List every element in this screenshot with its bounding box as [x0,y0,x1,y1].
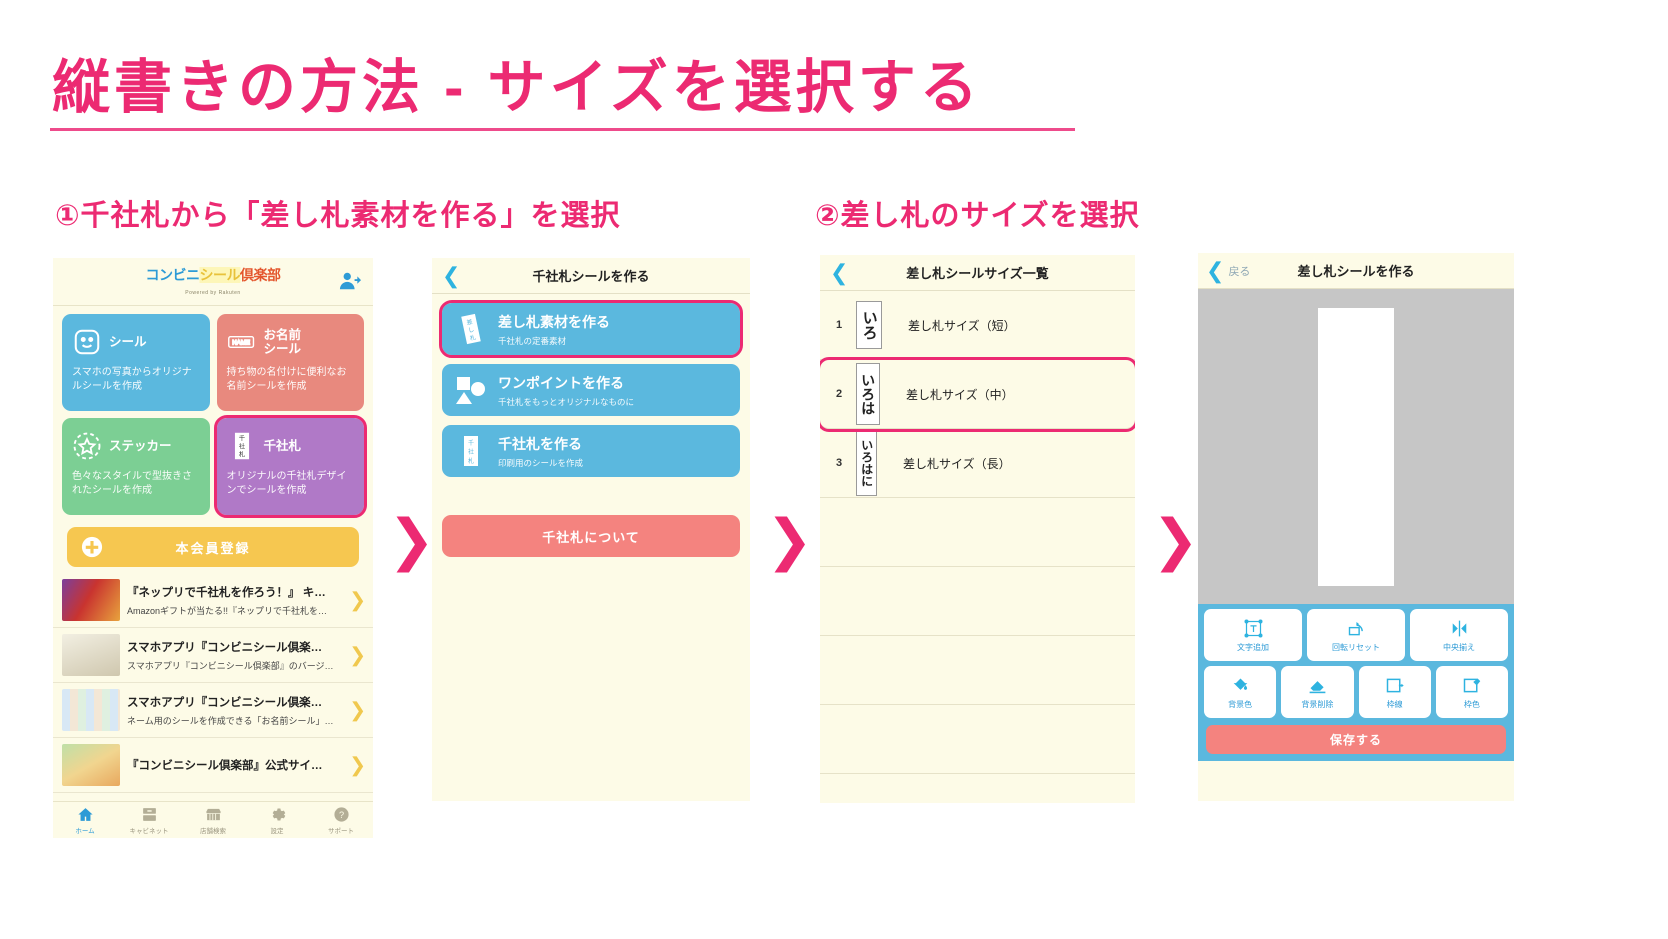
tab-settings[interactable]: 設定 [245,802,309,838]
menu-item-onepoint[interactable]: ワンポイントを作る 千社札をもっとオリジナルなものに [442,364,740,416]
menu-item-subtitle: 千社札の定番素材 [498,335,610,347]
size-row-mid[interactable]: 2 いろは 差し札サイズ（中） [820,360,1135,429]
tile-sticker[interactable]: ステッカー 色々なスタイルで型抜きされたシールを作成 [62,418,210,515]
tool-align-center[interactable]: 中央揃え [1410,609,1508,661]
news-item[interactable]: 『ネップリで千社札を作ろう！』 キ… Amazonギフトが当たる!!『ネップリで… [53,573,373,628]
tile-label: お名前 シール [264,328,302,357]
empty-row [820,636,1135,705]
chevron-right-icon: ❯ [349,588,366,613]
news-item[interactable]: スマホアプリ『コンビニシール倶楽… ネーム用のシールを作成できる「お名前シール」… [53,683,373,738]
border-width-icon [1384,675,1405,696]
size-row-short[interactable]: 1 いろ 差し札サイズ（短） [820,291,1135,360]
tab-home[interactable]: ホーム [53,802,117,838]
add-user-icon[interactable] [339,270,361,292]
tile-label: 千社札 [264,439,302,453]
chevron-left-icon[interactable]: ❮ [442,265,460,287]
tool-label: 回転リセット [1332,642,1380,653]
tool-border-width[interactable]: 枠線 [1359,666,1431,718]
sashifuda-icon: 差 し 札 [454,312,488,346]
news-title: 『コンビニシール倶楽部』公式サイ… [127,757,350,773]
star-burst-icon [72,431,102,461]
menu-item-subtitle: 印刷用のシールを作成 [498,457,583,469]
menu-item-title: ワンポイントを作る [498,373,634,393]
kana-preview: いろはに [856,430,877,496]
tab-label: ホーム [75,825,94,835]
back-button[interactable]: ❮ 戻る [1206,260,1250,282]
svg-text:千: 千 [238,435,244,443]
flow-arrow-1: ❯ [388,512,435,568]
phone-screen-senjafuda-menu: ❮ 千社札シールを作る 差 し 札 差し札素材を作る 千社札の定番素材 ワンポイ… [432,258,750,801]
kana-preview: いろ [856,301,882,349]
name-tag-icon: NAME [227,327,257,357]
phone-screen-size-list: ❮ 差し札シールサイズ一覧 1 いろ 差し札サイズ（短） 2 いろは 差し札サイ… [820,255,1135,803]
tab-label: キャビネット [130,825,169,835]
gear-icon [269,806,286,823]
tile-description: スマホの写真からオリジナルシールを作成 [72,366,200,393]
tool-label: 枠線 [1387,699,1403,710]
chevron-right-icon: ❯ [349,698,366,723]
phone-screen-home: コンビニシール倶楽部 Powered by Rakuten シール スマホの写真… [53,258,373,838]
align-center-icon [1449,618,1470,639]
logo-part-2: シール [200,267,241,283]
shapes-icon [454,373,488,407]
svg-text:社: 社 [468,448,474,456]
about-senjafuda-button[interactable]: 千社札について [442,515,740,557]
tab-cabinet[interactable]: キャビネット [117,802,181,838]
app-logo: コンビニシール倶楽部 Powered by Rakuten [146,265,281,296]
cabinet-icon [141,806,158,823]
logo-subtitle: Powered by Rakuten [146,290,281,296]
editor-canvas[interactable] [1198,289,1514,604]
add-text-icon [1243,618,1264,639]
menu-item-subtitle: 千社札をもっとオリジナルなものに [498,396,634,408]
menu-item-senjafuda[interactable]: 千 社 札 千社札を作る 印刷用のシールを作成 [442,425,740,477]
empty-row [820,498,1135,567]
tile-label: ステッカー [109,439,172,453]
tool-label: 枠色 [1464,699,1480,710]
page-title: 縦書きの方法 - サイズを選択する [52,40,982,124]
border-color-icon [1461,675,1482,696]
menu-item-sashifuda-material[interactable]: 差 し 札 差し札素材を作る 千社札の定番素材 [442,303,740,355]
chevron-left-icon[interactable]: ❮ [830,262,848,284]
tile-seal[interactable]: シール スマホの写真からオリジナルシールを作成 [62,314,210,411]
logo-part-1: コンビニ [146,267,200,283]
tile-senjafuda[interactable]: 千 社 札 千社札 オリジナルの千社札デザインでシールを作成 [217,418,365,515]
chevron-left-icon: ❮ [1206,260,1224,282]
svg-text:?: ? [338,810,343,820]
home-icon [77,806,94,823]
register-button[interactable]: 本会員登録 [67,527,359,567]
chevron-right-icon: ❯ [349,753,366,778]
tool-background-color[interactable]: 背景色 [1204,666,1276,718]
screen-header: ❮ 千社札シールを作る [432,258,750,294]
eraser-icon [1307,675,1328,696]
app-header: コンビニシール倶楽部 Powered by Rakuten [53,258,373,306]
tool-label: 背景削除 [1301,699,1333,710]
tile-description: 色々なスタイルで型抜きされたシールを作成 [72,470,200,497]
senjafuda-icon: 千 社 札 [227,431,257,461]
flow-arrow-2: ❯ [766,512,813,568]
tile-label: シール [109,335,147,349]
step-1-heading: ①千社札から「差し札素材を作る」を選択 [55,192,621,234]
tab-store-search[interactable]: 店舗検索 [181,802,245,838]
news-list: 『ネップリで千社札を作ろう！』 キ… Amazonギフトが当たる!!『ネップリで… [53,573,373,793]
svg-text:札: 札 [468,457,474,465]
svg-text:札: 札 [238,451,244,459]
tile-description: 持ち物の名付けに便利なお名前シールを作成 [227,366,355,393]
tool-rotate-reset[interactable]: 回転リセット [1307,609,1405,661]
row-number: 3 [826,457,852,469]
step-2-heading: ②差し札のサイズを選択 [815,192,1140,234]
news-subtitle: Amazonギフトが当たる!!『ネップリで千社札を… [127,604,350,617]
news-title: スマホアプリ『コンビニシール倶楽… [127,639,350,655]
news-thumbnail [62,579,120,621]
bottom-tab-bar: ホーム キャビネット 店舗検索 設定 ? サポート [53,801,373,838]
smiley-square-icon [72,327,102,357]
plus-circle-icon [81,536,103,558]
register-button-label: 本会員登録 [175,538,250,557]
empty-row [820,567,1135,636]
tool-background-erase[interactable]: 背景削除 [1281,666,1353,718]
help-icon: ? [333,806,350,823]
senjafuda-icon: 千 社 札 [454,434,488,468]
tool-label: 中央揃え [1443,642,1475,653]
news-thumbnail [62,744,120,786]
svg-text:NAME: NAME [232,340,250,347]
size-list: 1 いろ 差し札サイズ（短） 2 いろは 差し札サイズ（中） 3 いろはに 差し… [820,291,1135,774]
screen-title: 千社札シールを作る [532,266,649,285]
logo-part-3: 倶楽部 [240,267,281,283]
svg-text:社: 社 [238,443,244,451]
news-thumbnail [62,689,120,731]
screen-title: 差し札シールサイズ一覧 [906,263,1049,282]
menu-item-title: 差し札素材を作る [498,312,610,332]
size-label: 差し札サイズ（中） [906,386,1014,403]
news-item[interactable]: 『コンビニシール倶楽部』公式サイ… ❯ [53,738,373,793]
news-thumbnail [62,634,120,676]
chevron-right-icon: ❯ [349,643,366,668]
tool-label: 文字追加 [1237,642,1269,653]
screen-title: 差し札シールを作る [1297,261,1414,280]
phone-screen-editor: ❮ 戻る 差し札シールを作る 文字追加 回転 [1198,253,1514,801]
menu-item-title: 千社札を作る [498,434,583,454]
flow-arrow-3: ❯ [1152,512,1199,568]
size-label: 差し札サイズ（短） [908,317,1016,334]
tile-name-seal[interactable]: NAME お名前 シール 持ち物の名付けに便利なお名前シールを作成 [217,314,365,411]
news-subtitle: ネーム用のシールを作成できる「お名前シール」… [127,714,350,727]
store-icon [205,806,222,823]
tool-add-text[interactable]: 文字追加 [1204,609,1302,661]
sticker-sheet[interactable] [1318,308,1394,586]
tool-border-color[interactable]: 枠色 [1436,666,1508,718]
kana-text: いろ [861,310,876,340]
save-button[interactable]: 保存する [1206,725,1506,754]
title-underline [50,128,1075,131]
rotate-reset-icon [1346,618,1367,639]
tool-label: 背景色 [1228,699,1252,710]
row-number: 2 [826,388,852,400]
toolbar-row-1: 文字追加 回転リセット 中央揃え [1204,609,1508,661]
empty-row [820,705,1135,774]
editor-toolbar: 文字追加 回転リセット 中央揃え [1198,604,1514,761]
news-item[interactable]: スマホアプリ『コンビニシール倶楽… スマホアプリ『コンビニシール倶楽部』のバージ… [53,628,373,683]
tile-description: オリジナルの千社札デザインでシールを作成 [227,470,355,497]
screen-header: ❮ 戻る 差し札シールを作る [1198,253,1514,289]
size-label: 差し札サイズ（長） [903,455,1011,472]
kana-preview: いろは [856,363,880,425]
screen-header: ❮ 差し札シールサイズ一覧 [820,255,1135,291]
svg-text:千: 千 [468,439,474,447]
tab-label: 設定 [271,825,284,835]
news-title: 『ネップリで千社札を作ろう！』 キ… [127,584,350,600]
news-subtitle: スマホアプリ『コンビニシール倶楽部』のバージ… [127,659,350,672]
feature-tiles: シール スマホの写真からオリジナルシールを作成 NAME お名前 シール 持ち物… [53,306,373,519]
toolbar-row-2: 背景色 背景削除 枠線 枠色 [1204,666,1508,718]
tab-support[interactable]: ? サポート [309,802,373,838]
size-row-long[interactable]: 3 いろはに 差し札サイズ（長） [820,429,1135,498]
kana-text: いろは [861,373,875,415]
row-number: 1 [826,319,852,331]
back-label: 戻る [1228,263,1250,279]
kana-text: いろはに [860,439,872,487]
tab-label: 店舗検索 [200,825,226,835]
news-title: スマホアプリ『コンビニシール倶楽… [127,694,350,710]
tab-label: サポート [328,825,354,835]
fill-color-icon [1230,675,1251,696]
